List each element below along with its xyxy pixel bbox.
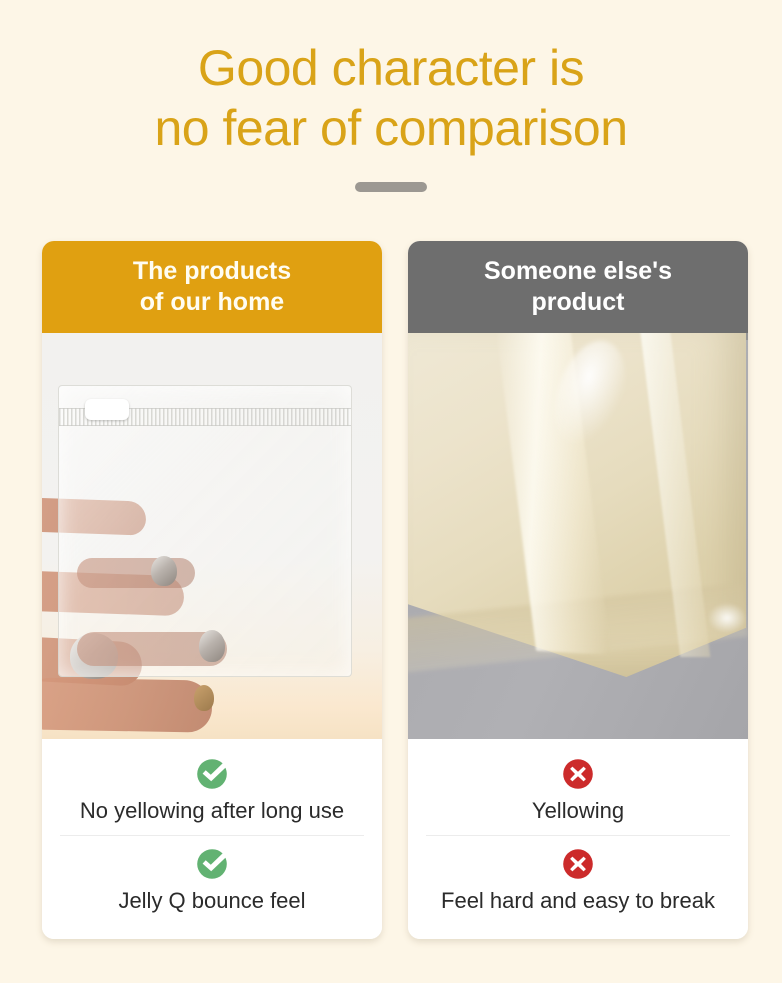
feature-text: Feel hard and easy to break <box>408 887 748 915</box>
feature-row: Feel hard and easy to break <box>408 835 748 925</box>
x-circle-icon <box>561 847 595 881</box>
title-divider <box>355 182 427 192</box>
other-product-photo <box>408 333 748 739</box>
feature-row: No yellowing after long use <box>42 745 382 835</box>
check-circle-icon <box>195 757 229 791</box>
finger <box>42 677 212 732</box>
card-other-product-header: Someone else's product <box>408 241 748 333</box>
feature-row: Yellowing <box>408 745 748 835</box>
feature-text: Jelly Q bounce feel <box>42 887 382 915</box>
feature-text: No yellowing after long use <box>42 797 382 825</box>
feature-row: Jelly Q bounce feel <box>42 835 382 925</box>
fingernail-through-pouch <box>151 556 177 586</box>
other-product-feature-list: Yellowing Feel hard and easy to break <box>408 739 748 939</box>
card-our-product-header-line-2: of our home <box>133 287 291 318</box>
our-product-feature-list: No yellowing after long use Jelly Q boun… <box>42 739 382 939</box>
fingernail-through-pouch <box>199 630 225 662</box>
bag-gloss-highlight <box>708 603 746 633</box>
card-other-product: Someone else's product Yellowing <box>408 241 748 939</box>
card-other-product-header-line-2: product <box>484 287 672 318</box>
feature-text: Yellowing <box>408 797 748 825</box>
our-product-photo <box>42 333 382 739</box>
clear-zip-pouch <box>58 385 352 677</box>
x-circle-icon <box>561 757 595 791</box>
fingernail <box>194 685 214 711</box>
finger-through-pouch <box>77 558 195 588</box>
check-circle-icon <box>195 847 229 881</box>
page-title-line-2: no fear of comparison <box>0 98 782 158</box>
pouch-zipper-slider <box>85 399 129 420</box>
card-our-product-header-line-1: The products <box>133 256 291 287</box>
page-title: Good character is no fear of comparison <box>0 0 782 158</box>
page-title-line-1: Good character is <box>0 38 782 98</box>
card-our-product: The products of our home <box>42 241 382 939</box>
card-other-product-header-line-1: Someone else's <box>484 256 672 287</box>
card-our-product-header: The products of our home <box>42 241 382 333</box>
comparison-cards: The products of our home <box>42 241 748 939</box>
